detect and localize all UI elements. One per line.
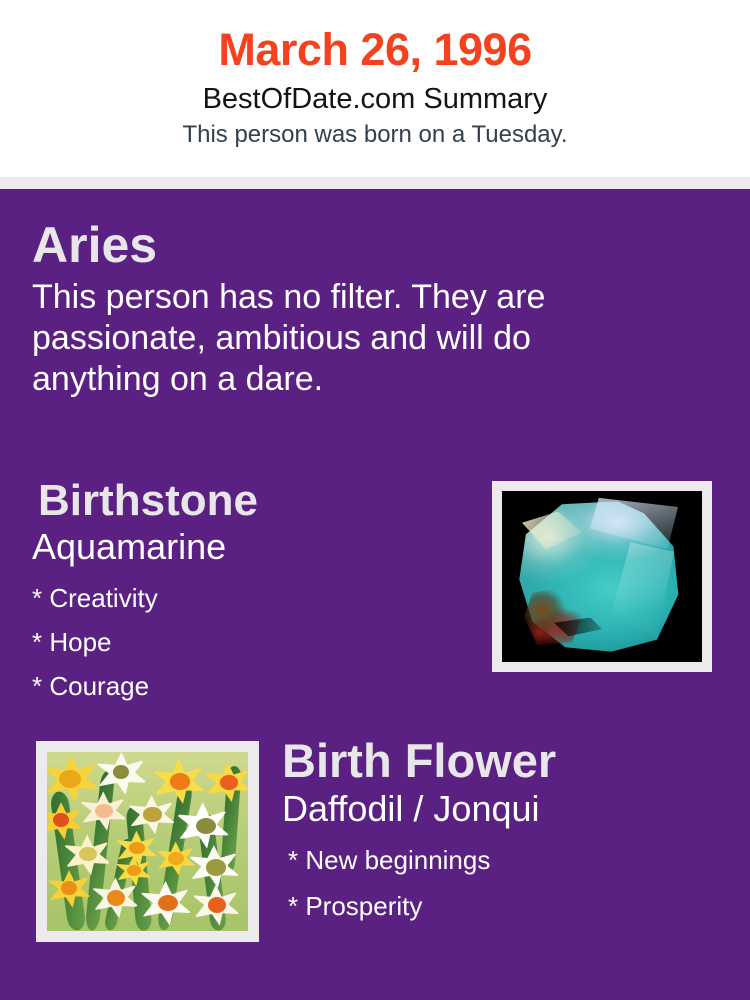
flower-corona — [158, 895, 178, 911]
flower-corona — [59, 770, 81, 788]
daffodil-field-image — [47, 752, 248, 931]
card-header: March 26, 1996 BestOfDate.com Summary Th… — [0, 0, 750, 177]
flower-corona — [113, 765, 129, 779]
birthstone-trait-list: * Creativity * Hope * Courage — [32, 576, 462, 708]
zodiac-description: This person has no filter. They are pass… — [32, 277, 652, 400]
flower-corona — [127, 865, 141, 876]
header-divider — [0, 177, 750, 189]
flower-corona — [220, 775, 238, 789]
list-item: * Hope — [32, 620, 462, 664]
content-panel: Aries This person has no filter. They ar… — [0, 189, 750, 1000]
flower-corona — [143, 807, 161, 821]
birthstone-image-frame — [492, 481, 712, 672]
list-item: * Creativity — [32, 576, 462, 620]
page-title: March 26, 1996 — [0, 24, 750, 76]
flower-corona — [168, 852, 184, 865]
birthstone-heading: Birthstone — [32, 476, 462, 526]
birthstone-name: Aquamarine — [32, 526, 462, 568]
flower-corona — [206, 859, 226, 875]
zodiac-section: Aries This person has no filter. They ar… — [32, 217, 672, 400]
birthstone-section: Birthstone Aquamarine * Creativity * Hop… — [32, 476, 462, 708]
list-item: * Prosperity — [288, 883, 722, 929]
born-weekday-text: This person was born on a Tuesday. — [0, 120, 750, 150]
list-item: * Courage — [32, 664, 462, 708]
birth-flower-name: Daffodil / Jonqui — [282, 787, 722, 831]
flower-corona — [208, 897, 226, 913]
summary-card: March 26, 1996 BestOfDate.com Summary Th… — [0, 0, 750, 1000]
aquamarine-crystal-image — [502, 491, 702, 662]
birth-flower-image-frame — [36, 741, 259, 942]
zodiac-sign-name: Aries — [32, 217, 672, 273]
flower-corona — [170, 773, 190, 789]
birth-flower-heading: Birth Flower — [282, 734, 722, 787]
list-item: * New beginnings — [288, 837, 722, 883]
site-summary-label: BestOfDate.com Summary — [0, 81, 750, 117]
birth-flower-section: Birth Flower Daffodil / Jonqui * New beg… — [282, 734, 722, 929]
birth-flower-trait-list: * New beginnings * Prosperity — [282, 837, 722, 929]
